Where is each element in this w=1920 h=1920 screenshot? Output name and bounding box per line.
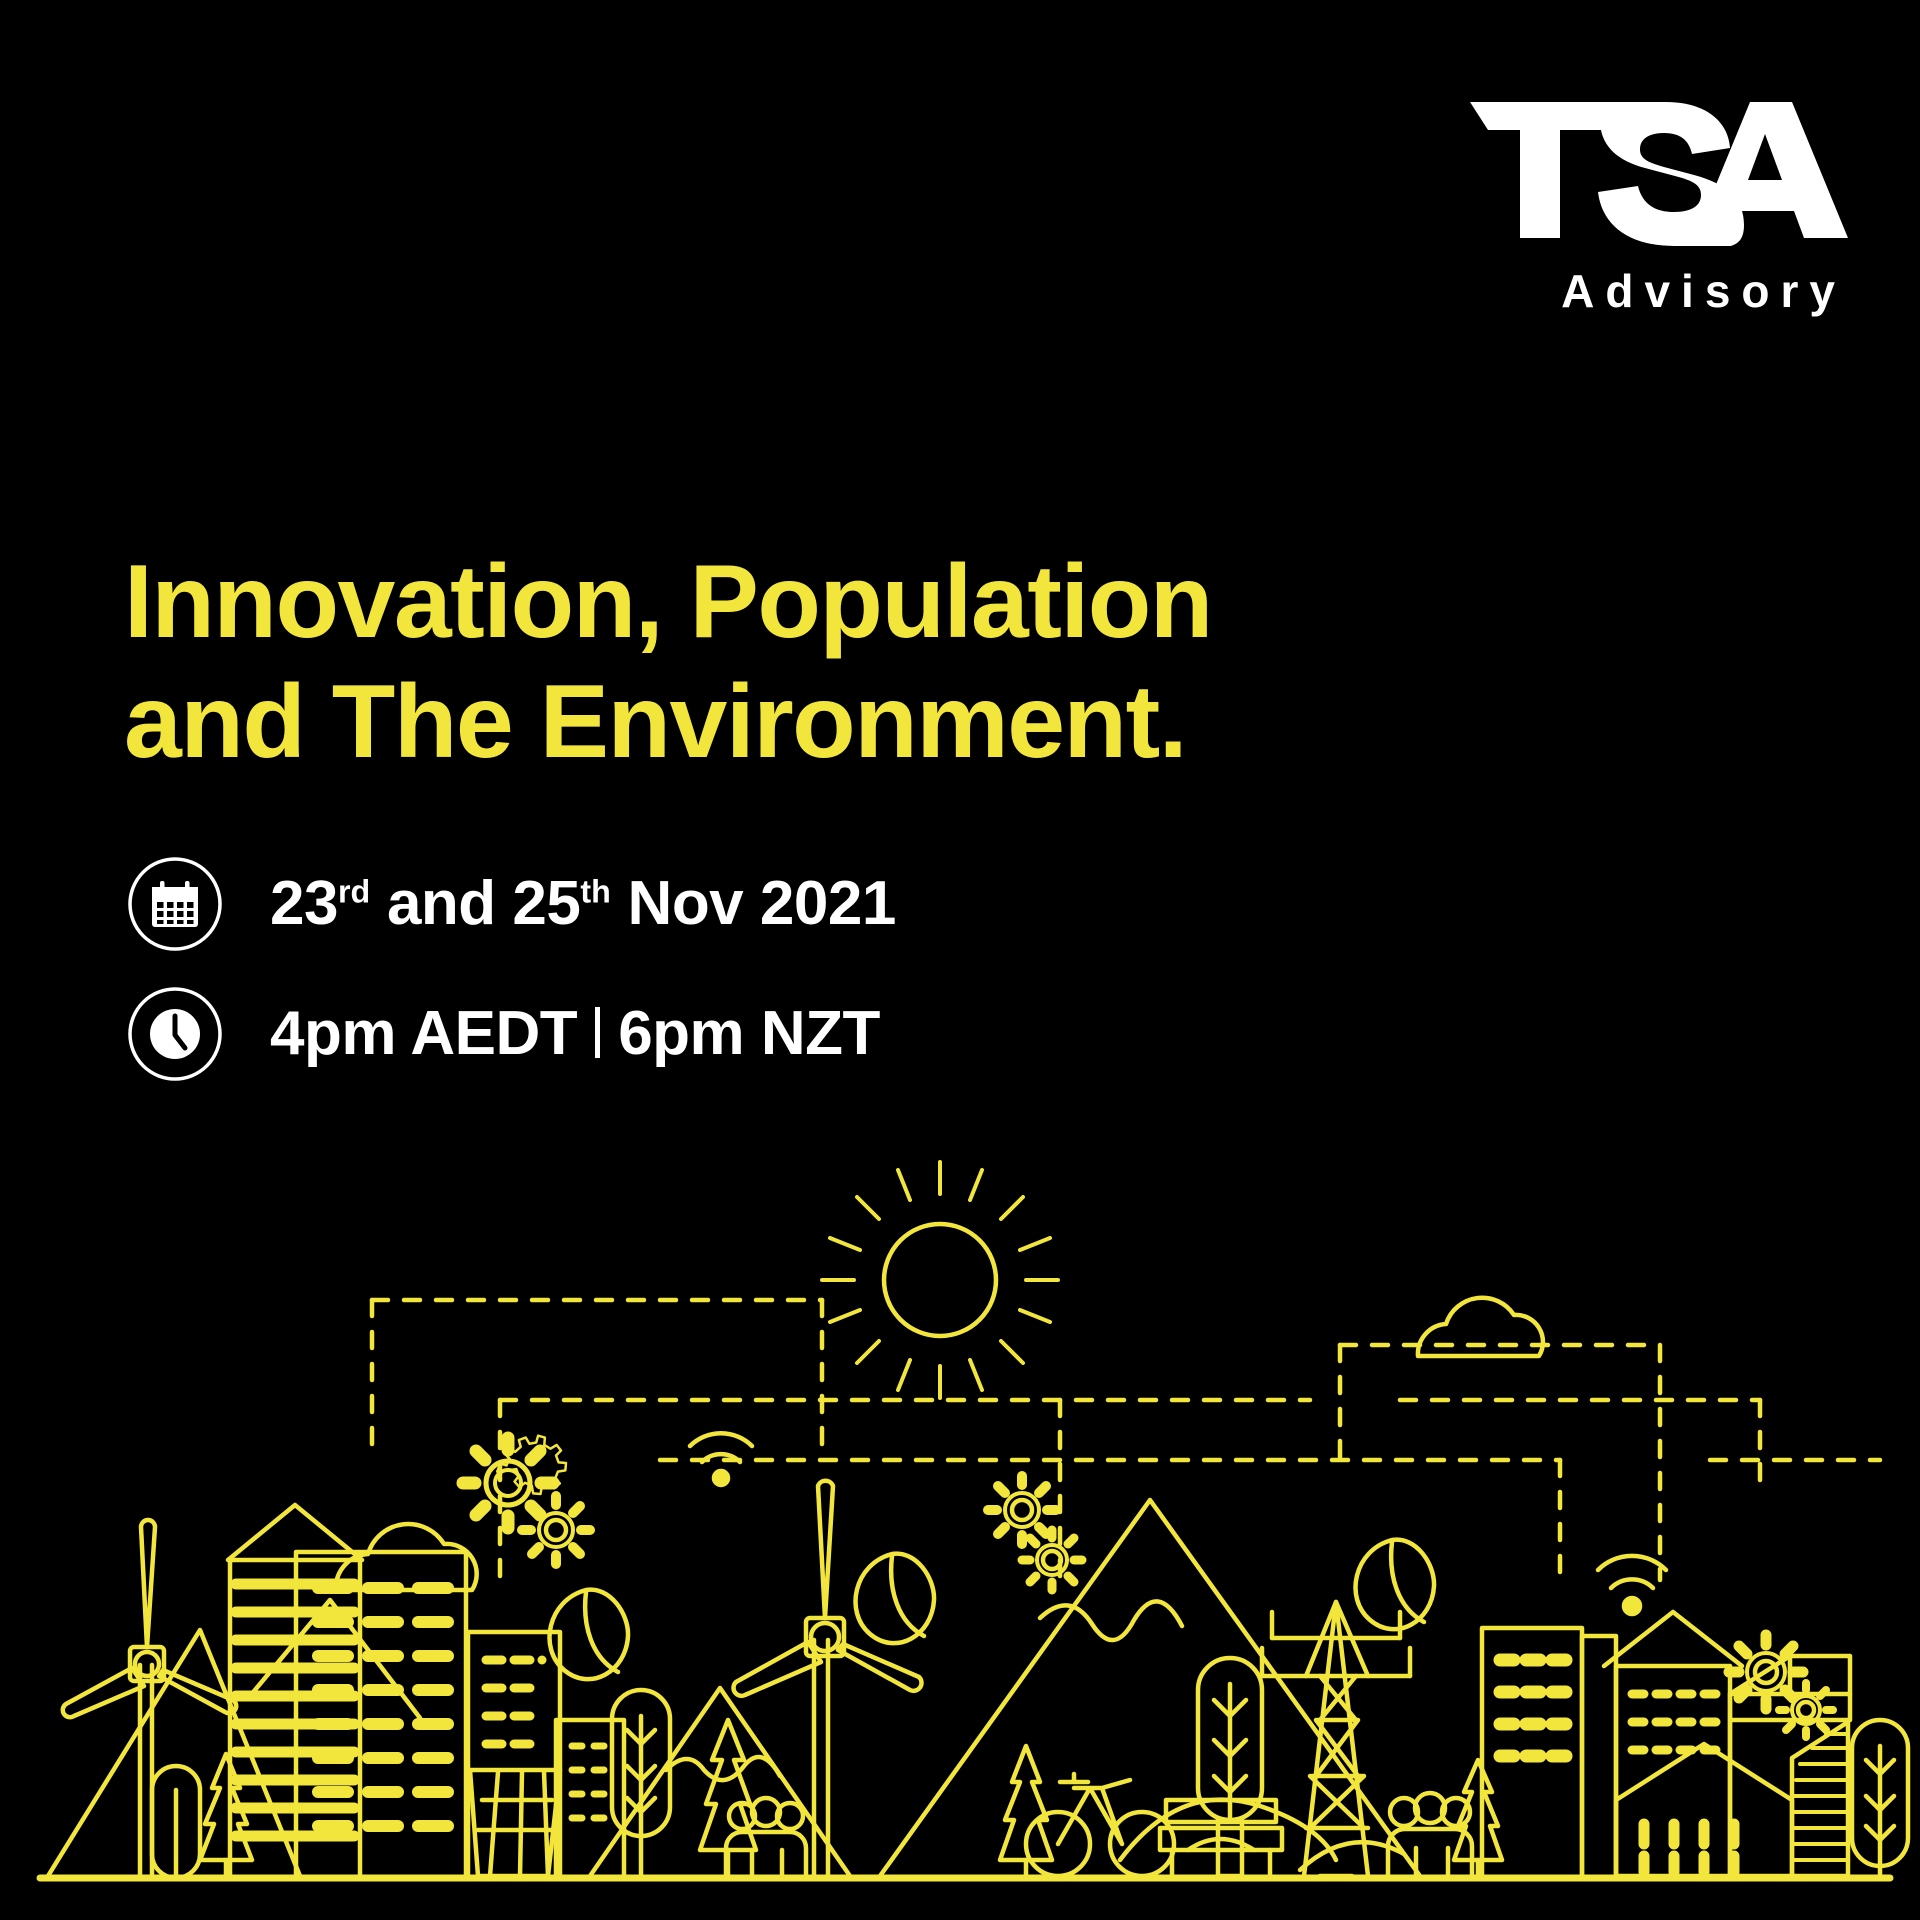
pine-tree [200,1754,252,1876]
sun-icon [822,1162,1058,1398]
event-details: 23rd and 25th Nov 2021 4pm AEDT6pm NZT [126,855,896,1083]
gear-icon [988,1476,1056,1544]
people-group [1388,1793,1472,1876]
office-building [1482,1628,1582,1876]
logo-sub-label: Advisory [1561,268,1846,314]
date-month-year: Nov 2021 [611,869,896,938]
date-ordinal-1: rd [338,873,370,909]
pine-tree [1000,1746,1052,1876]
gear-icon [1022,1530,1082,1590]
event-time-row: 4pm AEDT6pm NZT [126,985,896,1083]
pine-tree [1454,1760,1502,1876]
time-nzt: 6pm NZT [618,999,880,1068]
calendar-icon [126,855,224,953]
time-divider [595,1007,600,1058]
smart-city-illustration [0,1160,1920,1920]
date-join: and [370,869,512,938]
date-day-2: 25 [512,869,580,938]
date-ordinal-2: th [580,873,610,909]
tsa-wordmark-icon [1466,96,1848,246]
cloud-icon [1418,1298,1543,1356]
headline-line-1: Innovation, Population [124,542,1212,663]
event-date-row: 23rd and 25th Nov 2021 [126,855,896,953]
tree [1852,1720,1908,1876]
leaf-icon [856,1554,935,1644]
people-group [726,1798,806,1876]
office-building [468,1632,560,1876]
leaf-icon [1356,1540,1435,1630]
event-date-text: 23rd and 25th Nov 2021 [270,873,896,935]
tsa-logo: Advisory [1466,96,1848,314]
page-title: Innovation, Population and The Environme… [124,542,1212,783]
wifi-icon [1598,1556,1666,1614]
time-aedt: 4pm AEDT [270,999,577,1068]
office-building [296,1552,466,1876]
date-day-1: 23 [270,869,338,938]
office-building [1582,1636,1616,1876]
wind-turbine [734,1481,922,1876]
gear-icon [522,1496,590,1564]
house [1616,1656,1850,1876]
poster-canvas: Advisory Innovation, Population and The … [0,0,1920,1920]
dashed-connector [372,1300,1880,1580]
mountain [880,1500,1420,1876]
tree [152,1766,200,1878]
event-time-text: 4pm AEDT6pm NZT [270,1003,880,1065]
tree [1198,1658,1262,1876]
gear-icon [1779,1683,1833,1737]
clock-icon [126,985,224,1083]
headline-line-2: and The Environment. [124,662,1212,783]
